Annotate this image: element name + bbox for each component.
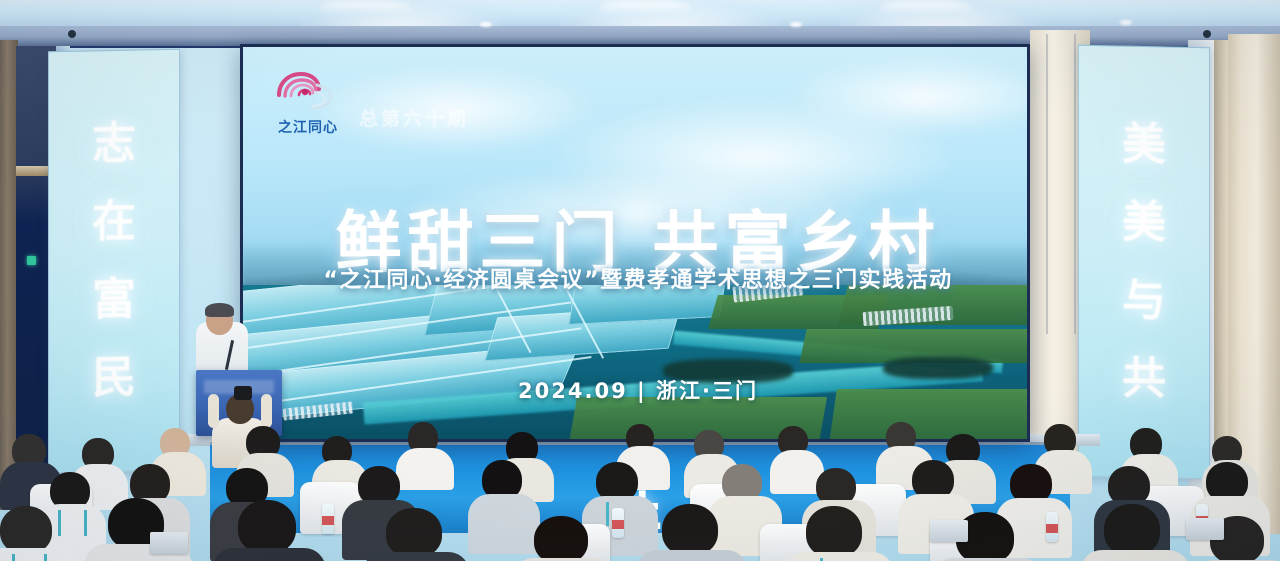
audience-area [0, 420, 1280, 561]
issue-label: 总第六十期 [359, 104, 469, 131]
wall-seam-1 [1046, 34, 1048, 334]
wall-seam-2 [1074, 34, 1076, 334]
banner-right-char-2: 美 [1122, 201, 1166, 246]
wall-camera-icon [1203, 30, 1211, 38]
ceiling-camera-icon [68, 30, 76, 38]
banner-left-char-2: 在 [92, 200, 136, 245]
banner-right-char-1: 美 [1122, 123, 1166, 168]
badge-lanyard [44, 554, 47, 561]
banner-left-char-3: 富 [92, 278, 136, 323]
ceiling-light-1 [320, 1, 410, 15]
downlight-1 [480, 22, 492, 27]
main-led-screen[interactable]: 之江同心 总第六十期 鲜甜三门 共富乡村 “之江同心·经济圆桌会议”暨费孝通学术… [240, 44, 1030, 442]
delegate-tablet [1186, 518, 1224, 540]
aerial-background-photo [243, 285, 1030, 442]
camera-icon [234, 386, 252, 400]
banner-right-char-3: 与 [1122, 279, 1166, 324]
banner-left-char-1: 志 [92, 122, 136, 167]
zhijiang-tongxin-swirl-logo-icon [271, 69, 345, 121]
ceiling-light-3 [880, 1, 970, 15]
badge-lanyard [84, 510, 87, 536]
downlight-2 [790, 22, 802, 27]
delegate-tablet [930, 520, 968, 542]
banner-right-char-4: 共 [1122, 357, 1166, 402]
badge-lanyard [58, 510, 61, 536]
exit-indicator-icon [27, 256, 36, 265]
right-vertical-banner: 美 美 与 共 [1078, 45, 1210, 480]
downlight-3 [1120, 20, 1132, 25]
water-bottle [612, 508, 624, 538]
conference-photo-scene: 志 在 富 民 美 美 与 共 门 共 [0, 0, 1280, 561]
screen-logo-block: 之江同心 总第六十期 [271, 69, 469, 137]
delegate-tablet [150, 532, 188, 554]
speaker-hair [205, 303, 234, 317]
left-vertical-banner: 志 在 富 民 [48, 49, 180, 474]
screen-date-location: 2024.09 | 浙江·三门 [243, 375, 1030, 405]
water-bottle [1046, 512, 1058, 542]
water-bottle [322, 504, 334, 534]
banner-left-char-4: 民 [92, 356, 136, 401]
screen-subtitle: “之江同心·经济圆桌会议”暨费孝通学术思想之三门实践活动 [243, 262, 1030, 294]
ceiling-light-2 [600, 1, 690, 15]
logo-wordmark: 之江同心 [278, 117, 338, 137]
badge-lanyard [606, 502, 609, 526]
badge-lanyard [12, 554, 15, 561]
